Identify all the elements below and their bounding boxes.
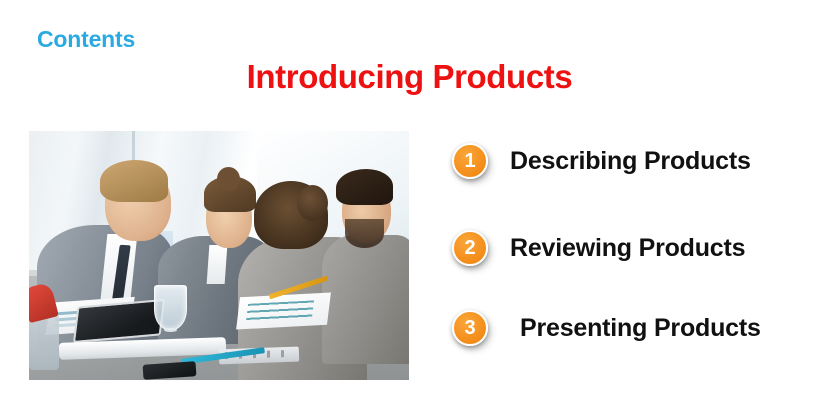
- person-businessman-right: [325, 171, 409, 350]
- pen-holder: [29, 315, 59, 370]
- slide-canvas: Contents Introducing Products: [0, 0, 817, 411]
- water-glass: [154, 285, 186, 329]
- list-item-label: Describing Products: [510, 147, 751, 176]
- hair-bun: [297, 185, 328, 221]
- number-badge-icon: 2: [452, 230, 488, 266]
- number-badge-icon: 1: [452, 143, 488, 179]
- section-label: Contents: [37, 26, 135, 53]
- list-item[interactable]: 3 Presenting Products: [452, 310, 761, 346]
- list-item[interactable]: 1 Describing Products: [452, 143, 751, 179]
- smartphone: [143, 361, 197, 380]
- meeting-photo: [29, 131, 409, 380]
- hair: [336, 169, 393, 205]
- blouse: [207, 245, 228, 284]
- list-item-label: Presenting Products: [520, 314, 761, 343]
- beard: [345, 219, 383, 248]
- list-item[interactable]: 2 Reviewing Products: [452, 230, 745, 266]
- suit-jacket: [322, 235, 409, 364]
- list-item-label: Reviewing Products: [510, 234, 745, 263]
- page-title: Introducing Products: [1, 58, 817, 96]
- number-badge-icon: 3: [452, 310, 488, 346]
- photo-scene: [29, 131, 409, 380]
- chart-printout: [236, 293, 331, 330]
